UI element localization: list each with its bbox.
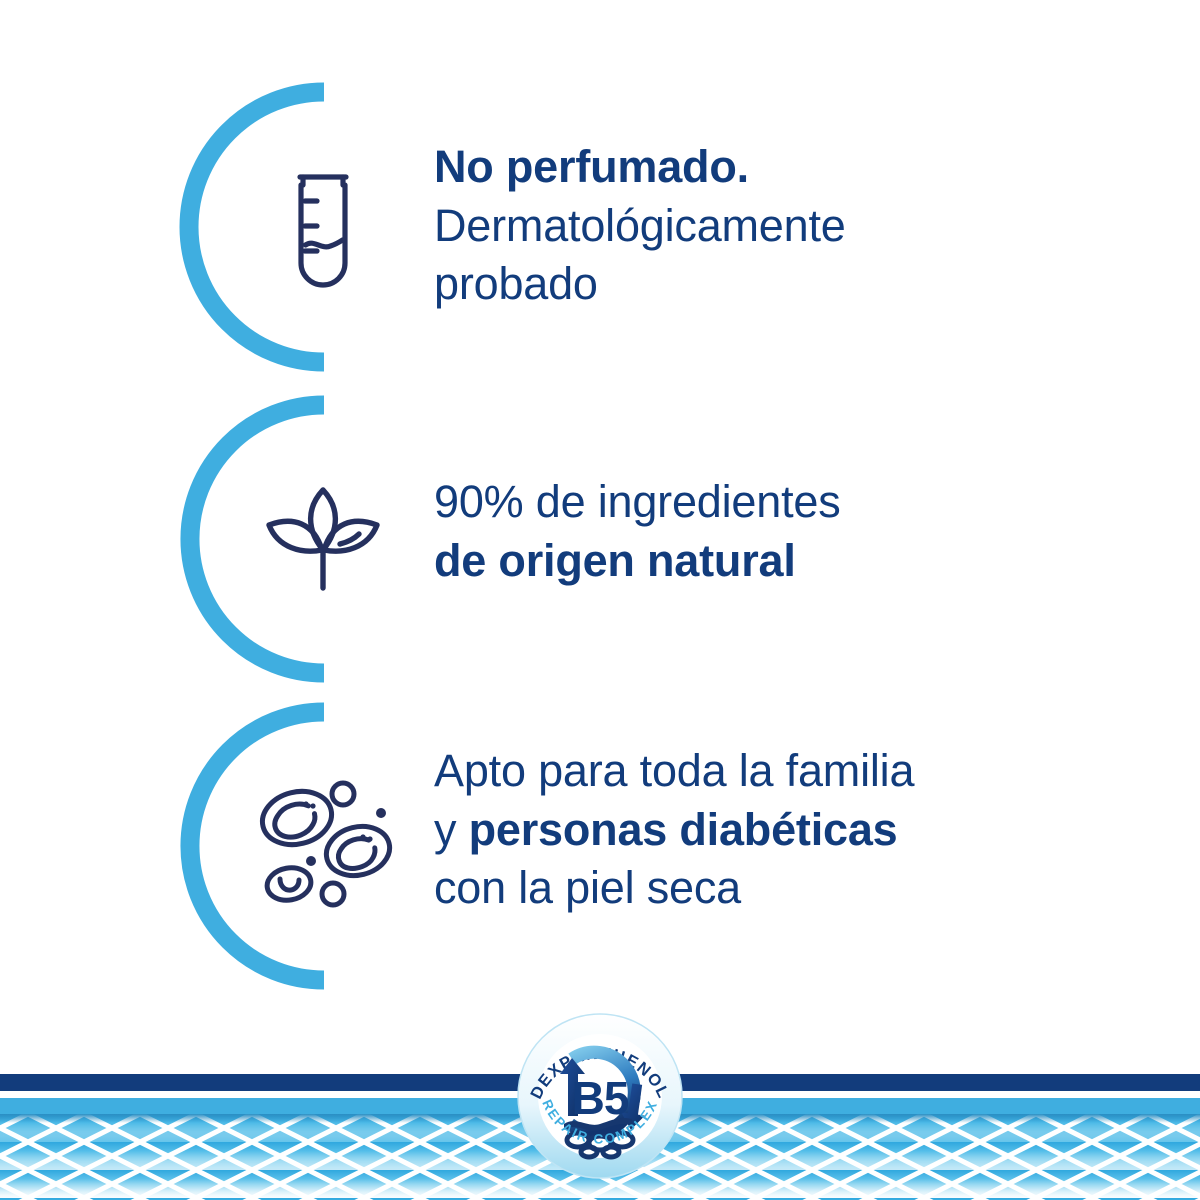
benefit-text: No perfumado. Dermatológicamente probado xyxy=(434,138,1134,314)
benefit-line: de origen natural xyxy=(434,532,1134,591)
benefit-line: No perfumado. xyxy=(434,138,1134,197)
benefit-line: Apto para toda la familia xyxy=(434,742,1134,801)
benefit-row: Apto para toda la familia y personas dia… xyxy=(0,700,1200,995)
benefit-text: 90% de ingredientes de origen natural xyxy=(434,473,1134,590)
benefit-row: No perfumado. Dermatológicamente probado xyxy=(0,80,1200,380)
benefit-line: probado xyxy=(434,255,1134,314)
test-tube-icon xyxy=(248,168,398,298)
dexpanthenol-b5-logo: DEXPANTHENOL B5 REPAIR xyxy=(516,1012,684,1180)
plant-leaf-icon xyxy=(248,471,398,601)
benefits-panel: No perfumado. Dermatológicamente probado xyxy=(0,0,1200,1200)
benefit-line: Dermatológicamente xyxy=(434,197,1134,256)
benefit-text: Apto para toda la familia y personas dia… xyxy=(434,742,1134,918)
skin-cells-icon xyxy=(248,770,398,910)
benefit-line: con la piel seca xyxy=(434,859,1134,918)
logo-center-text: B5 xyxy=(572,1072,629,1124)
benefit-line: 90% de ingredientes xyxy=(434,473,1134,532)
benefit-line-prefix: y xyxy=(434,804,469,855)
benefit-row: 90% de ingredientes de origen natural xyxy=(0,393,1200,688)
benefit-line-emphasis: personas diabéticas xyxy=(469,804,898,855)
